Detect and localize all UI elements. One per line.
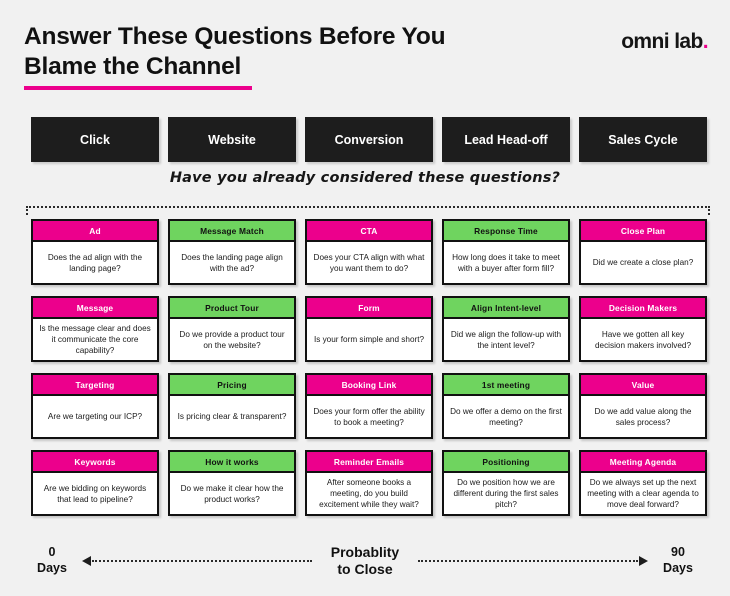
- question-card-text: Did we align the follow-up with the inte…: [444, 319, 568, 360]
- bracket-tick-left: [26, 206, 28, 215]
- brand-dot: .: [703, 30, 708, 53]
- question-card-text: Does the ad align with the landing page?: [33, 242, 157, 283]
- question-card-text: Does the landing page align with the ad?: [170, 242, 294, 283]
- question-card-text: Do we add value along the sales process?: [581, 396, 705, 437]
- question-card-title: Response Time: [444, 221, 568, 242]
- question-card[interactable]: Booking LinkDoes your form offer the abi…: [305, 373, 433, 439]
- infographic-page: Answer These Questions Before You Blame …: [0, 0, 730, 596]
- question-card[interactable]: Close PlanDid we create a close plan?: [579, 219, 707, 285]
- question-card-title: Positioning: [444, 452, 568, 473]
- question-card-title: Product Tour: [170, 298, 294, 319]
- question-card-text: Have we gotten all key decision makers i…: [581, 319, 705, 360]
- bracket-tick-right: [708, 206, 710, 215]
- question-card-title: CTA: [307, 221, 431, 242]
- page-title-line-1: Answer These Questions Before You: [24, 22, 544, 52]
- question-card[interactable]: Meeting AgendaDo we always set up the ne…: [579, 450, 707, 516]
- question-card-text: Does your CTA align with what you want t…: [307, 242, 431, 283]
- question-card[interactable]: Align Intent-levelDid we align the follo…: [442, 296, 570, 362]
- question-card[interactable]: AdDoes the ad align with the landing pag…: [31, 219, 159, 285]
- bracket-top-line: [26, 206, 710, 208]
- stage-tab[interactable]: Website: [168, 117, 296, 162]
- question-card-text: Do we provide a product tour on the webs…: [170, 319, 294, 360]
- question-card[interactable]: 1st meetingDo we offer a demo on the fir…: [442, 373, 570, 439]
- stage-tab[interactable]: Lead Head-off: [442, 117, 570, 162]
- question-card-title: Ad: [33, 221, 157, 242]
- axis-label-end: 90 Days: [650, 544, 706, 576]
- question-card-title: 1st meeting: [444, 375, 568, 396]
- question-card-text: Are we bidding on keywords that lead to …: [33, 473, 157, 514]
- question-card-text: Do we offer a demo on the first meeting?: [444, 396, 568, 437]
- question-card[interactable]: Response TimeHow long does it take to me…: [442, 219, 570, 285]
- axis-dots-right: [418, 560, 638, 562]
- question-card[interactable]: MessageIs the message clear and does it …: [31, 296, 159, 362]
- question-card[interactable]: How it worksDo we make it clear how the …: [168, 450, 296, 516]
- question-card[interactable]: TargetingAre we targeting our ICP?: [31, 373, 159, 439]
- question-card-text: Is pricing clear & transparent?: [170, 396, 294, 437]
- arrow-right-icon: [639, 556, 648, 566]
- section-caption: Have you already considered these questi…: [0, 170, 730, 186]
- page-title: Answer These Questions Before You Blame …: [24, 22, 544, 90]
- question-card-text: Do we position how we are different duri…: [444, 473, 568, 514]
- card-row: KeywordsAre we bidding on keywords that …: [31, 450, 707, 516]
- axis-line-right: [418, 556, 648, 566]
- question-card[interactable]: ValueDo we add value along the sales pro…: [579, 373, 707, 439]
- card-row: AdDoes the ad align with the landing pag…: [31, 219, 707, 285]
- stage-tab-bar: ClickWebsiteConversionLead Head-offSales…: [31, 117, 707, 162]
- question-card-text: Is your form simple and short?: [307, 319, 431, 360]
- axis-end-value: 90: [650, 544, 706, 560]
- question-card-text: How long does it take to meet with a buy…: [444, 242, 568, 283]
- question-card-title: Close Plan: [581, 221, 705, 242]
- question-card-text: Did we create a close plan?: [581, 242, 705, 283]
- question-card[interactable]: KeywordsAre we bidding on keywords that …: [31, 450, 159, 516]
- brand-logo: omni lab.: [621, 30, 708, 54]
- stage-tab[interactable]: Sales Cycle: [579, 117, 707, 162]
- question-card[interactable]: Decision MakersHave we gotten all key de…: [579, 296, 707, 362]
- question-card[interactable]: Product TourDo we provide a product tour…: [168, 296, 296, 362]
- probability-axis: 0 Days Probablity to Close 90 Days: [24, 540, 706, 590]
- question-card-text: Do we always set up the next meeting wit…: [581, 473, 705, 514]
- question-card-grid: AdDoes the ad align with the landing pag…: [31, 219, 707, 516]
- question-card-text: Are we targeting our ICP?: [33, 396, 157, 437]
- question-card-text: Is the message clear and does it communi…: [33, 319, 157, 360]
- question-card-text: Does your form offer the ability to book…: [307, 396, 431, 437]
- question-card-title: Keywords: [33, 452, 157, 473]
- question-card[interactable]: PricingIs pricing clear & transparent?: [168, 373, 296, 439]
- axis-end-unit: Days: [650, 560, 706, 576]
- stage-tab[interactable]: Click: [31, 117, 159, 162]
- question-card-title: Message Match: [170, 221, 294, 242]
- question-card-title: Targeting: [33, 375, 157, 396]
- page-title-line-2: Blame the Channel: [24, 52, 544, 82]
- question-card-text: After someone books a meeting, do you bu…: [307, 473, 431, 514]
- question-card-title: Reminder Emails: [307, 452, 431, 473]
- brand-name: omni lab: [621, 30, 703, 53]
- question-card-title: Booking Link: [307, 375, 431, 396]
- question-card-title: Meeting Agenda: [581, 452, 705, 473]
- question-card-title: Pricing: [170, 375, 294, 396]
- card-row: TargetingAre we targeting our ICP?Pricin…: [31, 373, 707, 439]
- question-card-title: How it works: [170, 452, 294, 473]
- question-card-title: Align Intent-level: [444, 298, 568, 319]
- stage-tab[interactable]: Conversion: [305, 117, 433, 162]
- question-card[interactable]: CTADoes your CTA align with what you wan…: [305, 219, 433, 285]
- question-card-title: Value: [581, 375, 705, 396]
- dotted-bracket: [26, 206, 710, 216]
- title-underline: [24, 86, 252, 90]
- card-row: MessageIs the message clear and does it …: [31, 296, 707, 362]
- question-card-text: Do we make it clear how the product work…: [170, 473, 294, 514]
- question-card-title: Message: [33, 298, 157, 319]
- question-card[interactable]: Message MatchDoes the landing page align…: [168, 219, 296, 285]
- page-header: Answer These Questions Before You Blame …: [24, 22, 708, 94]
- question-card[interactable]: Reminder EmailsAfter someone books a mee…: [305, 450, 433, 516]
- question-card[interactable]: PositioningDo we position how we are dif…: [442, 450, 570, 516]
- question-card-title: Form: [307, 298, 431, 319]
- question-card-title: Decision Makers: [581, 298, 705, 319]
- question-card[interactable]: FormIs your form simple and short?: [305, 296, 433, 362]
